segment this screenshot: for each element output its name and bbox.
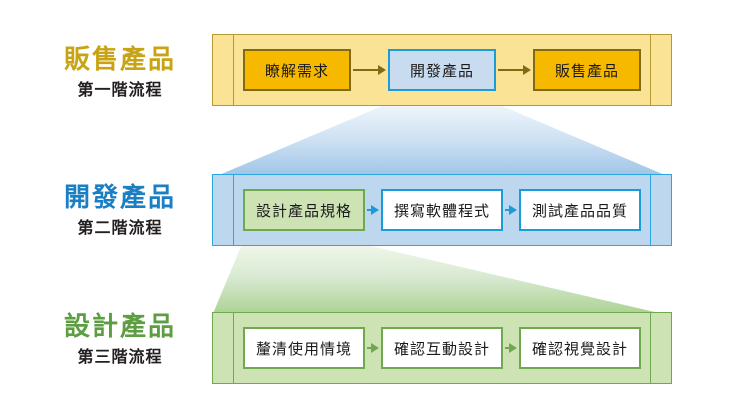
flow-arrow-icon [367, 204, 379, 216]
connector-develop-to-design [212, 244, 672, 316]
arrow-head [378, 65, 386, 75]
row-label-sell: 販售產品 第一階流程 [40, 46, 200, 98]
process-node-develop-product[interactable]: 開發產品 [388, 49, 496, 91]
process-band-design: 釐清使用情境 確認互動設計 確認視覺設計 [212, 312, 672, 384]
process-node-clarify-context[interactable]: 釐清使用情境 [243, 327, 365, 369]
row-label-design-subtitle: 第三階流程 [40, 348, 200, 366]
flow-row-develop: 設計產品規格 撰寫軟體程式 測試產品品質 [243, 175, 641, 245]
band-divider-right [650, 175, 651, 245]
flow-row-design: 釐清使用情境 確認互動設計 確認視覺設計 [243, 313, 641, 383]
band-divider-left [233, 35, 234, 105]
band-divider-left [233, 175, 234, 245]
process-band-develop: 設計產品規格 撰寫軟體程式 測試產品品質 [212, 174, 672, 246]
row-label-develop-title: 開發產品 [40, 184, 200, 213]
arrow-head [371, 343, 379, 353]
band-divider-right [650, 313, 651, 383]
row-label-design-title: 設計產品 [40, 313, 200, 342]
flow-arrow-icon [505, 204, 517, 216]
flow-arrow-icon [353, 64, 386, 76]
band-divider-right [650, 35, 651, 105]
row-label-develop-subtitle: 第二階流程 [40, 219, 200, 237]
connector-sell-to-develop-shape [212, 106, 672, 178]
process-node-sell-product[interactable]: 販售產品 [533, 49, 641, 91]
process-node-write-software[interactable]: 撰寫軟體程式 [381, 189, 503, 231]
arrow-head [371, 205, 379, 215]
diagram-canvas: 販售產品 第一階流程 瞭解需求 開發產品 販售產品 開發產品 第二階流程 設計產… [0, 0, 740, 415]
row-label-develop: 開發產品 第二階流程 [40, 184, 200, 236]
row-label-sell-title: 販售產品 [40, 46, 200, 75]
arrow-head [509, 343, 517, 353]
connector-sell-to-develop [212, 106, 672, 178]
connector-develop-to-design-shape [212, 244, 672, 316]
process-node-confirm-visual[interactable]: 確認視覺設計 [519, 327, 641, 369]
flow-row-sell: 瞭解需求 開發產品 販售產品 [243, 35, 641, 105]
process-node-test-quality[interactable]: 測試產品品質 [519, 189, 641, 231]
flow-arrow-icon [505, 342, 517, 354]
arrow-head [509, 205, 517, 215]
band-divider-left [233, 313, 234, 383]
flow-arrow-icon [498, 64, 531, 76]
process-band-sell: 瞭解需求 開發產品 販售產品 [212, 34, 672, 106]
process-node-confirm-interaction[interactable]: 確認互動設計 [381, 327, 503, 369]
arrow-head [523, 65, 531, 75]
process-node-design-spec[interactable]: 設計產品規格 [243, 189, 365, 231]
arrow-shaft [353, 69, 379, 71]
flow-arrow-icon [367, 342, 379, 354]
row-label-design: 設計產品 第三階流程 [40, 313, 200, 365]
row-label-sell-subtitle: 第一階流程 [40, 81, 200, 99]
arrow-shaft [498, 69, 524, 71]
process-node-understand-needs[interactable]: 瞭解需求 [243, 49, 351, 91]
